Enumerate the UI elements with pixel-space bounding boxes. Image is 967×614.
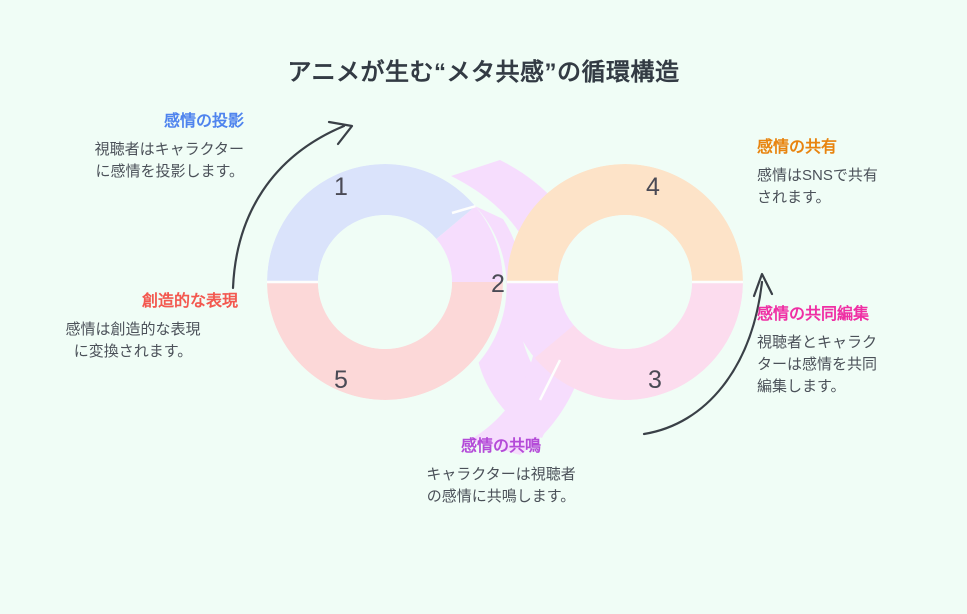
callout-title-5: 創造的な表現 [28, 292, 238, 312]
callout-body-4: 感情はSNSで共有 されます。 [757, 165, 962, 209]
segment-number-3: 3 [648, 366, 662, 394]
callout-emotion-projection: 感情の投影 視聴者はキャラクター に感情を投影します。 [22, 112, 244, 183]
callout-body-5: 感情は創造的な表現 に変換されます。 [28, 319, 238, 363]
callout-body-3: 視聴者とキャラク ターは感情を共同 編集します。 [757, 332, 963, 397]
callout-emotion-sharing: 感情の共有 感情はSNSで共有 されます。 [757, 138, 962, 209]
callout-body-1: 視聴者はキャラクター に感情を投影します。 [22, 139, 244, 183]
segment-number-1: 1 [334, 173, 348, 201]
right-donut-hole [558, 215, 692, 349]
callout-title-4: 感情の共有 [757, 138, 962, 158]
left-donut-hole [318, 215, 452, 349]
segment-number-2: 2 [491, 270, 505, 298]
segment-number-5: 5 [334, 366, 348, 394]
callout-title-2: 感情の共鳴 [370, 437, 632, 457]
infographic-canvas: アニメが生む“メタ共感”の循環構造 [0, 0, 967, 614]
callout-emotion-coediting: 感情の共同編集 視聴者とキャラク ターは感情を共同 編集します。 [757, 305, 963, 397]
callout-body-2: キャラクターは視聴者 の感情に共鳴します。 [370, 464, 632, 508]
callout-emotion-resonance: 感情の共鳴 キャラクターは視聴者 の感情に共鳴します。 [370, 437, 632, 508]
segment-number-4: 4 [646, 173, 660, 201]
callout-title-3: 感情の共同編集 [757, 305, 963, 325]
callout-creative-expression: 創造的な表現 感情は創造的な表現 に変換されます。 [28, 292, 238, 363]
callout-title-1: 感情の投影 [22, 112, 244, 132]
